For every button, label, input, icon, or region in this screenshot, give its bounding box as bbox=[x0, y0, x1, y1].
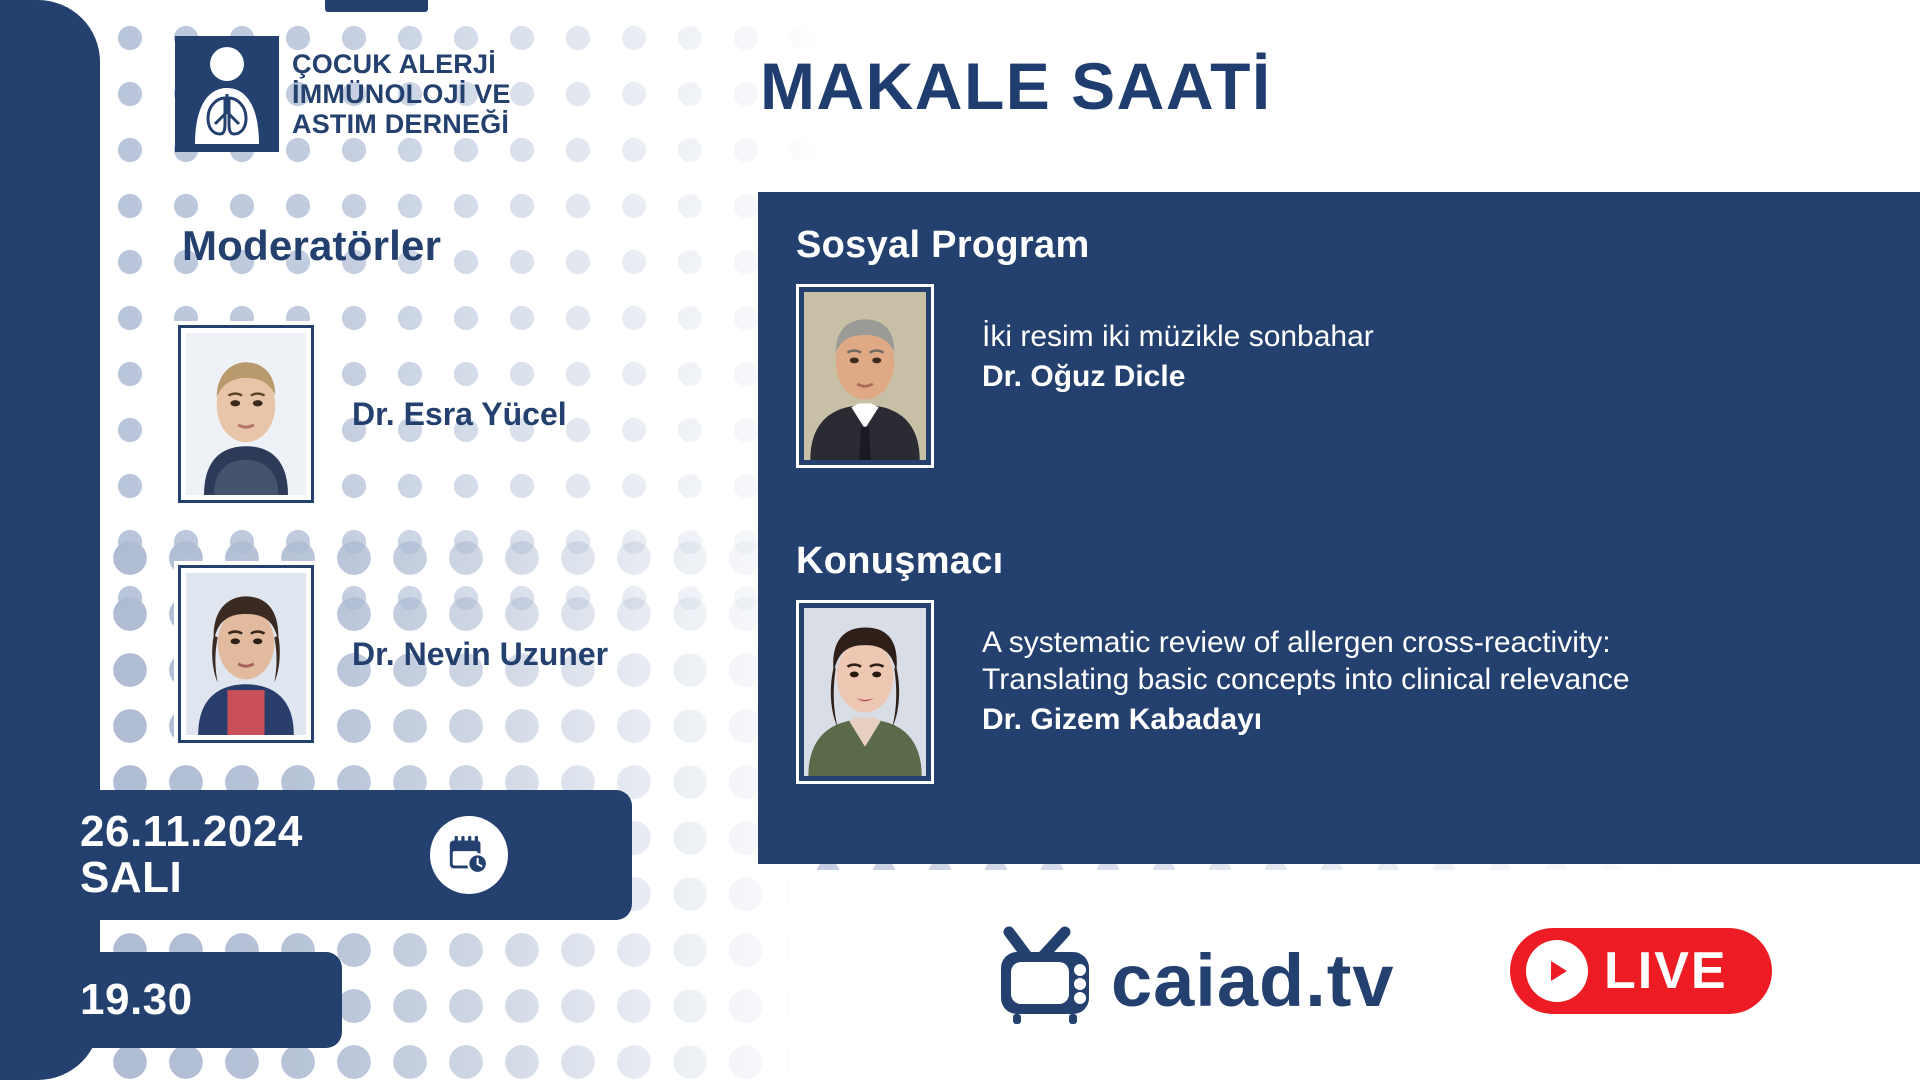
moderator-item: Dr. Esra Yücel bbox=[178, 325, 567, 503]
program-entry-social: İki resim iki müzikle sonbahar Dr. Oğuz … bbox=[796, 284, 1374, 468]
branding-bar: caiad.tv LIVE bbox=[790, 870, 1812, 1080]
speaker-name: Dr. Gizem Kabadayı bbox=[982, 700, 1630, 739]
moderators-heading: Moderatörler bbox=[182, 222, 441, 270]
top-navy-tab bbox=[325, 0, 428, 12]
date-block: 26.11.2024 SALI bbox=[0, 790, 632, 920]
live-label: LIVE bbox=[1604, 945, 1728, 997]
portrait-nevin-uzuner bbox=[186, 573, 306, 735]
time-block: 19.30 bbox=[0, 952, 342, 1048]
event-time: 19.30 bbox=[80, 975, 193, 1025]
avatar bbox=[178, 325, 314, 503]
speaker-name: Dr. Oğuz Dicle bbox=[982, 357, 1374, 396]
logo-line-1: ÇOCUK ALERJİ bbox=[292, 49, 511, 79]
avatar bbox=[796, 600, 934, 784]
live-badge[interactable]: LIVE bbox=[1510, 928, 1772, 1014]
calendar-clock-icon bbox=[430, 816, 508, 894]
caiad-tv-logo[interactable]: caiad.tv bbox=[995, 926, 1395, 1035]
logo-wordmark: ÇOCUK ALERJİ İMMÜNOLOJİ VE ASTIM DERNEĞİ bbox=[292, 49, 511, 140]
association-logo: ÇOCUK ALERJİ İMMÜNOLOJİ VE ASTIM DERNEĞİ bbox=[175, 36, 511, 152]
play-icon bbox=[1526, 940, 1588, 1002]
section-heading-social: Sosyal Program bbox=[796, 224, 1090, 267]
poster-canvas: ÇOCUK ALERJİ İMMÜNOLOJİ VE ASTIM DERNEĞİ… bbox=[0, 0, 1920, 1080]
logo-line-3: ASTIM DERNEĞİ bbox=[292, 109, 511, 139]
program-entry-speaker: A systematic review of allergen cross-re… bbox=[796, 600, 1630, 784]
event-date: 26.11.2024 bbox=[80, 809, 303, 855]
program-entry-text: İki resim iki müzikle sonbahar Dr. Oğuz … bbox=[982, 284, 1374, 396]
date-text: 26.11.2024 SALI bbox=[80, 809, 303, 901]
child-lungs-icon bbox=[175, 36, 279, 152]
talk-title-line-2: Translating basic concepts into clinical… bbox=[982, 661, 1630, 698]
moderator-item: Dr. Nevin Uzuner bbox=[178, 565, 608, 743]
avatar bbox=[178, 565, 314, 743]
section-heading-speaker: Konuşmacı bbox=[796, 540, 1004, 583]
page-title: MAKALE SAATİ bbox=[760, 48, 1272, 124]
moderator-name: Dr. Nevin Uzuner bbox=[352, 636, 608, 673]
retro-tv-icon bbox=[995, 926, 1107, 1035]
portrait-oguz-dicle bbox=[804, 292, 926, 460]
logo-line-2: İMMÜNOLOJİ VE bbox=[292, 79, 511, 109]
program-panel: Sosyal Program bbox=[758, 192, 1920, 864]
talk-title: İki resim iki müzikle sonbahar bbox=[982, 318, 1374, 355]
moderator-name: Dr. Esra Yücel bbox=[352, 396, 567, 433]
portrait-esra-yucel bbox=[186, 333, 306, 495]
event-day: SALI bbox=[80, 855, 303, 901]
avatar bbox=[796, 284, 934, 468]
site-name: caiad.tv bbox=[1111, 944, 1395, 1018]
talk-title-line-1: A systematic review of allergen cross-re… bbox=[982, 624, 1630, 661]
program-entry-text: A systematic review of allergen cross-re… bbox=[982, 600, 1630, 739]
portrait-gizem-kabadayi bbox=[804, 608, 926, 776]
